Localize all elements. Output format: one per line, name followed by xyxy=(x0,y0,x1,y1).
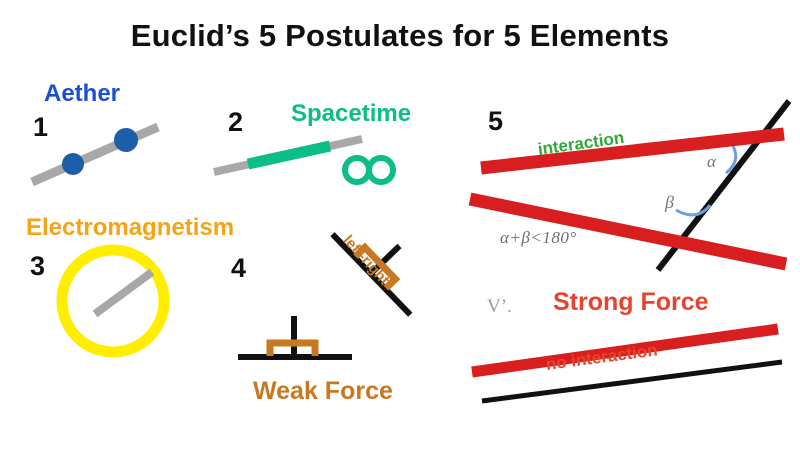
beta-arc xyxy=(676,205,710,215)
alpha-arc xyxy=(726,146,736,173)
label-beta-angle: β xyxy=(665,192,674,213)
postulate-number-3: 3 xyxy=(30,253,45,280)
transversal-line xyxy=(658,101,789,270)
spacetime-gray-segment xyxy=(214,139,362,172)
left-right-angle-group xyxy=(331,206,439,316)
electromagnetism-radius xyxy=(95,272,152,314)
postulate-number-2: 2 xyxy=(228,109,243,136)
label-interaction: interaction xyxy=(537,128,626,160)
postulate-number-4: 4 xyxy=(231,255,246,282)
aether-point-a xyxy=(62,153,84,175)
label-angle-sum-inequality: α+β<180° xyxy=(500,228,577,248)
label-v-prime: V’. xyxy=(487,296,512,318)
page-title: Euclid’s 5 Postulates for 5 Elements xyxy=(0,18,800,54)
label-no-interaction: no interaction xyxy=(545,340,659,375)
parallel-black-line xyxy=(482,362,782,401)
infinity-icon xyxy=(345,158,393,182)
postulate-number-1: 1 xyxy=(33,114,48,141)
slide-canvas: Euclid’s 5 Postulates for 5 Elements xyxy=(0,0,800,450)
figure-postulate-2 xyxy=(214,139,393,182)
postulate-number-5: 5 xyxy=(488,108,503,135)
caption-aether: Aether xyxy=(44,82,120,106)
electromagnetism-circle xyxy=(62,250,164,352)
figure-postulate-3 xyxy=(62,250,164,352)
caption-electromagnetism: Electromagnetism xyxy=(26,216,234,240)
aether-point-b xyxy=(114,128,138,152)
figure-postulate-4 xyxy=(238,206,439,359)
label-alpha-angle: α xyxy=(707,152,716,172)
caption-spacetime: Spacetime xyxy=(291,102,411,126)
red-line-upper xyxy=(481,134,784,168)
spacetime-green-segment xyxy=(248,146,330,164)
label-left-right: left-right xyxy=(339,232,392,289)
weak-force-right-angle-marker xyxy=(270,343,315,356)
caption-strong-force: Strong Force xyxy=(553,290,709,315)
aether-segment xyxy=(32,127,158,182)
caption-weak-force: Weak Force xyxy=(253,379,393,404)
figure-postulate-1 xyxy=(32,127,158,182)
figure-postulate-5-no-interaction xyxy=(472,329,782,401)
